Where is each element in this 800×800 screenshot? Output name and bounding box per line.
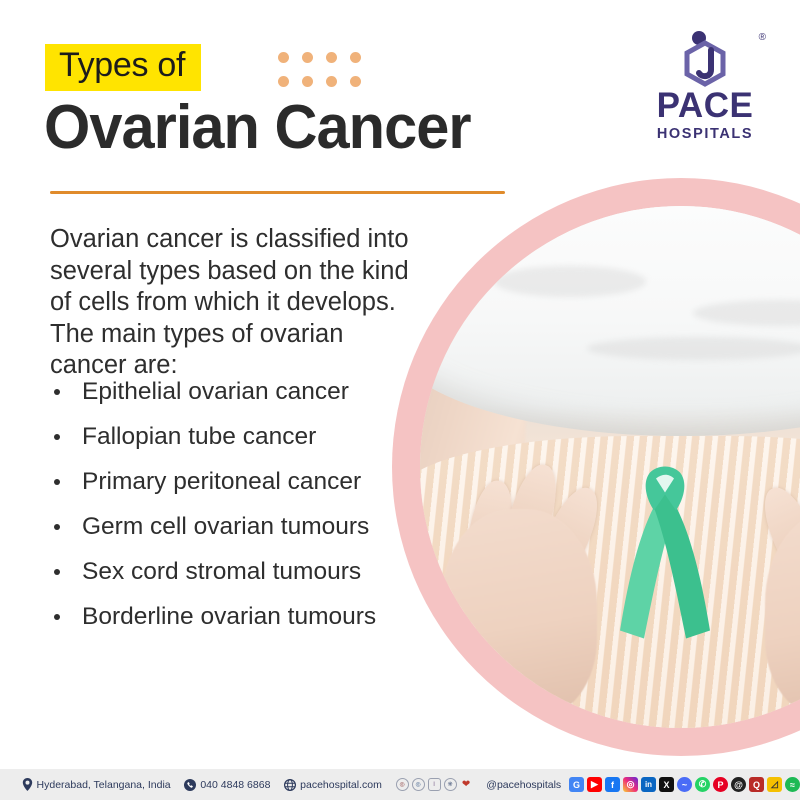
youtube-icon[interactable]: ▶ bbox=[587, 777, 602, 792]
footer-social-handle[interactable]: @pacehospitals bbox=[486, 779, 561, 791]
instagram-icon[interactable]: ◎ bbox=[623, 777, 638, 792]
messenger-icon[interactable]: ~ bbox=[677, 777, 692, 792]
list-item: Primary peritoneal cancer bbox=[50, 468, 420, 497]
logo-wordmark: PACE bbox=[640, 88, 770, 123]
social-links: G ▶ f ◎ in X ~ ✆ P @ Q ◿ ≈ bbox=[569, 777, 800, 792]
infographic-poster: Types of Ovarian Cancer ® PACE HOSPITALS… bbox=[0, 0, 800, 800]
phone-icon bbox=[184, 779, 196, 791]
hero-photo bbox=[420, 206, 800, 728]
threads-icon[interactable]: @ bbox=[731, 777, 746, 792]
accreditation-badge-iso: ❋ bbox=[444, 778, 457, 791]
spotify-icon[interactable]: ≈ bbox=[785, 777, 800, 792]
list-item: Fallopian tube cancer bbox=[50, 423, 420, 452]
accreditation-badges: ◎ ◎ I ❋ ❤ bbox=[396, 778, 473, 791]
brand-logo: ® PACE HOSPITALS bbox=[640, 30, 770, 142]
dot-grid-icon bbox=[278, 52, 364, 90]
accreditation-badge-aha: ❤ bbox=[460, 778, 473, 791]
logo-subtitle: HOSPITALS bbox=[640, 126, 770, 142]
accreditation-badge-nabh: ◎ bbox=[396, 778, 409, 791]
x-twitter-icon[interactable]: X bbox=[659, 777, 674, 792]
left-hand bbox=[441, 509, 598, 718]
location-text: Hyderabad, Telangana, India bbox=[37, 779, 171, 791]
social-handle-text: @pacehospitals bbox=[486, 779, 561, 791]
page-title: Ovarian Cancer bbox=[44, 96, 471, 159]
right-hand bbox=[765, 509, 800, 718]
registered-mark: ® bbox=[759, 32, 766, 43]
website-text: pacehospital.com bbox=[300, 779, 382, 791]
title-divider bbox=[50, 191, 505, 194]
quora-icon[interactable]: Q bbox=[749, 777, 764, 792]
slideshare-icon[interactable]: ◿ bbox=[767, 777, 782, 792]
google-business-icon[interactable]: G bbox=[569, 777, 584, 792]
kicker-badge: Types of bbox=[45, 44, 201, 91]
linkedin-icon[interactable]: in bbox=[641, 777, 656, 792]
footer-bar: Hyderabad, Telangana, India 040 4848 686… bbox=[0, 769, 800, 800]
accreditation-badge-jci: I bbox=[428, 778, 441, 791]
footer-location: Hyderabad, Telangana, India bbox=[22, 778, 171, 791]
map-pin-icon bbox=[22, 778, 33, 791]
list-item: Sex cord stromal tumours bbox=[50, 558, 420, 587]
teal-awareness-ribbon-icon bbox=[600, 459, 730, 644]
kicker-label: Types of bbox=[59, 46, 185, 84]
pinterest-icon[interactable]: P bbox=[713, 777, 728, 792]
list-item: Epithelial ovarian cancer bbox=[50, 378, 420, 407]
footer-phone[interactable]: 040 4848 6868 bbox=[184, 779, 270, 791]
list-item: Germ cell ovarian tumours bbox=[50, 513, 420, 542]
list-item: Borderline ovarian tumours bbox=[50, 603, 420, 632]
types-list: Epithelial ovarian cancer Fallopian tube… bbox=[50, 378, 420, 647]
globe-icon bbox=[284, 779, 296, 791]
footer-website[interactable]: pacehospital.com bbox=[284, 779, 382, 791]
facebook-icon[interactable]: f bbox=[605, 777, 620, 792]
phone-text: 040 4848 6868 bbox=[200, 779, 270, 791]
pace-hexagon-icon: ® bbox=[640, 30, 770, 88]
intro-paragraph: Ovarian cancer is classified into severa… bbox=[50, 224, 410, 382]
accreditation-badge-nabl: ◎ bbox=[412, 778, 425, 791]
whatsapp-icon[interactable]: ✆ bbox=[695, 777, 710, 792]
